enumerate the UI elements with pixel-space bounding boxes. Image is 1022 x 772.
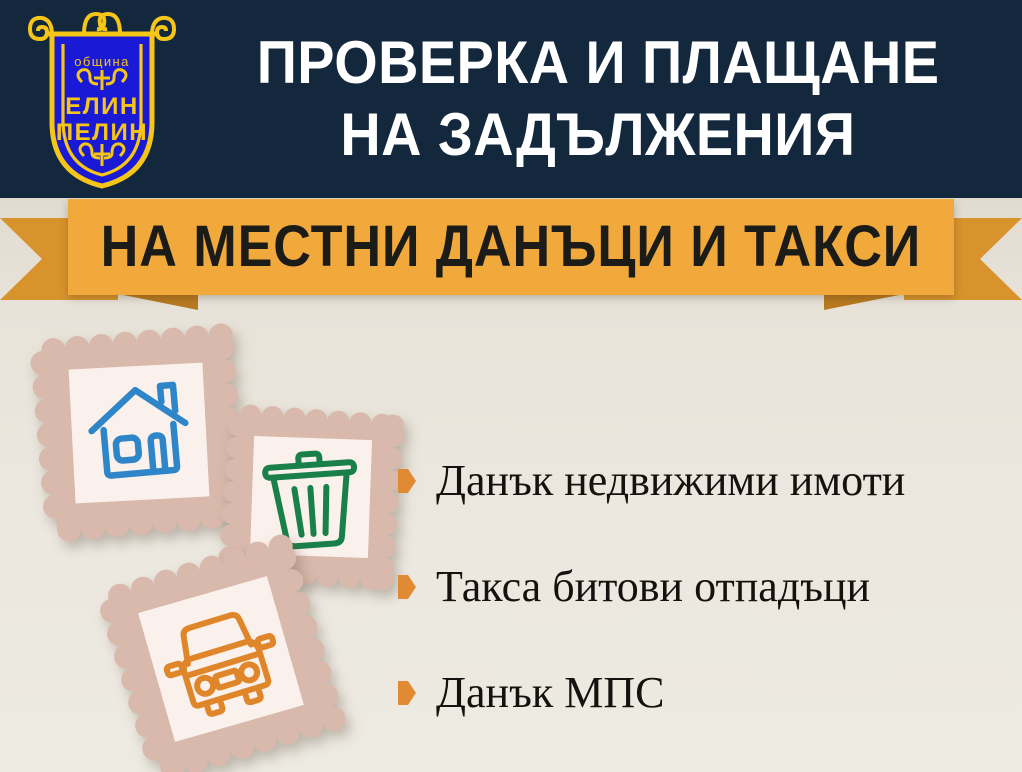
municipality-logo: община ЕЛИН ПЕЛИН <box>22 4 182 192</box>
stamp-vehicle <box>96 534 346 772</box>
ribbon-label: НА МЕСТНИ ДАНЪЦИ И ТАКСИ <box>101 218 922 276</box>
coat-of-arms-icon: община ЕЛИН ПЕЛИН <box>22 4 182 192</box>
header-bar: община ЕЛИН ПЕЛИН <box>0 0 1022 198</box>
logo-small-word: община <box>74 54 129 69</box>
car-stamp-icon <box>96 534 346 772</box>
tax-type-list: Данък недвижими имоти Такса битови отпад… <box>398 428 1018 746</box>
title-line-1: ПРОВЕРКА И ПЛАЩАНЕ <box>257 27 940 99</box>
list-item[interactable]: Данък МПС <box>398 640 1018 746</box>
title-line-2: НА ЗАДЪЛЖЕНИЯ <box>340 99 855 171</box>
bullet-arrow-icon <box>398 681 416 705</box>
page-title: ПРОВЕРКА И ПЛАЩАНЕ НА ЗАДЪЛЖЕНИЯ <box>186 14 1010 184</box>
bullet-arrow-icon <box>398 575 416 599</box>
list-item-label: Такса битови отпадъци <box>436 563 870 611</box>
bullet-arrow-icon <box>398 469 416 493</box>
list-item[interactable]: Такса битови отпадъци <box>398 534 1018 640</box>
list-item[interactable]: Данък недвижими имоти <box>398 428 1018 534</box>
subtitle-ribbon: НА МЕСТНИ ДАНЪЦИ И ТАКСИ <box>0 196 1022 312</box>
logo-line-2: ПЕЛИН <box>56 119 148 146</box>
logo-line-1: ЕЛИН <box>65 93 138 120</box>
list-item-label: Данък МПС <box>436 669 664 717</box>
poster-root: община ЕЛИН ПЕЛИН <box>0 0 1022 772</box>
list-item-label: Данък недвижими имоти <box>436 457 905 505</box>
ribbon-band: НА МЕСТНИ ДАНЪЦИ И ТАКСИ <box>68 199 954 295</box>
